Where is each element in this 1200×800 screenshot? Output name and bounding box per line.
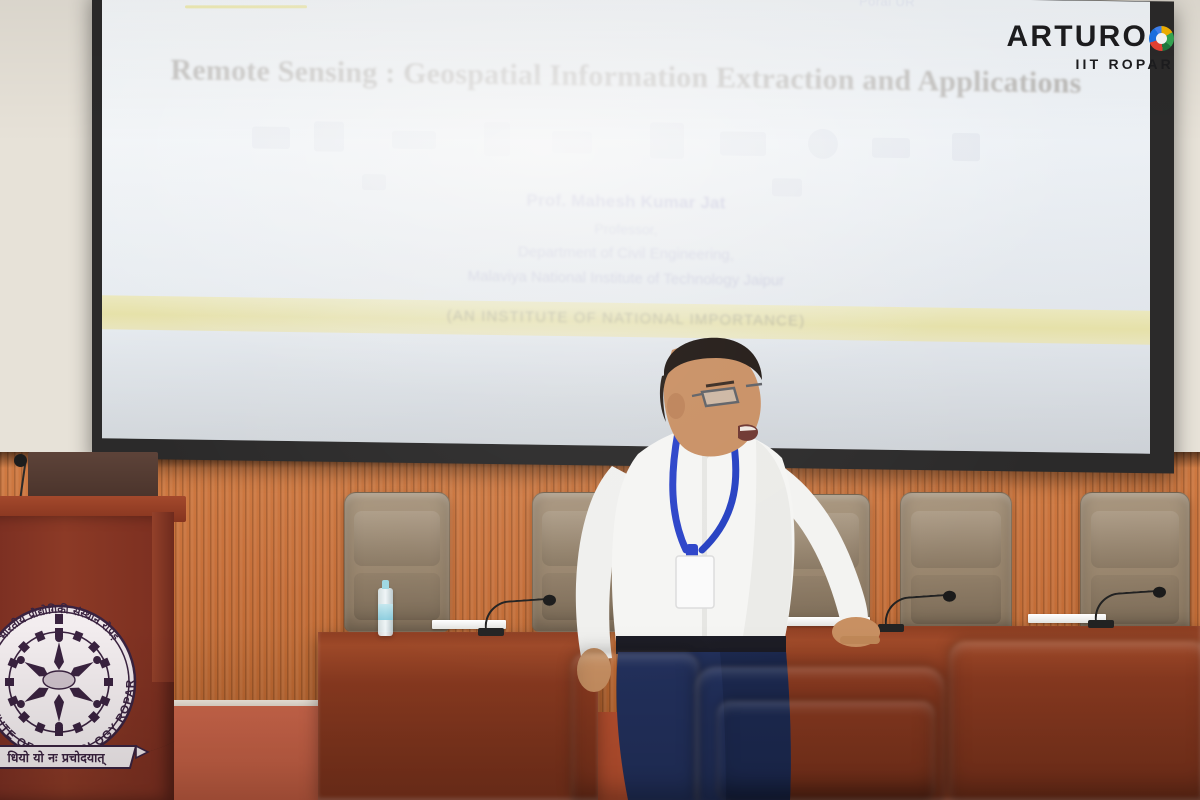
foreground-chair-armrest [716, 700, 936, 800]
brand-subtitle: IIT ROPAR [1006, 57, 1174, 71]
foreground-chair [570, 652, 700, 800]
camera-aperture-icon [1149, 26, 1174, 51]
foreground-chairs [0, 0, 1200, 800]
brand-wordmark: ARTURO [1006, 22, 1174, 52]
lecture-hall-photo: Poral UR Remote Sensing : Geospatial Inf… [0, 0, 1200, 800]
arturo-logo: ARTURO IIT ROPAR [1006, 22, 1174, 71]
foreground-chair [948, 640, 1200, 800]
brand-name-text: ARTURO [1006, 22, 1148, 52]
